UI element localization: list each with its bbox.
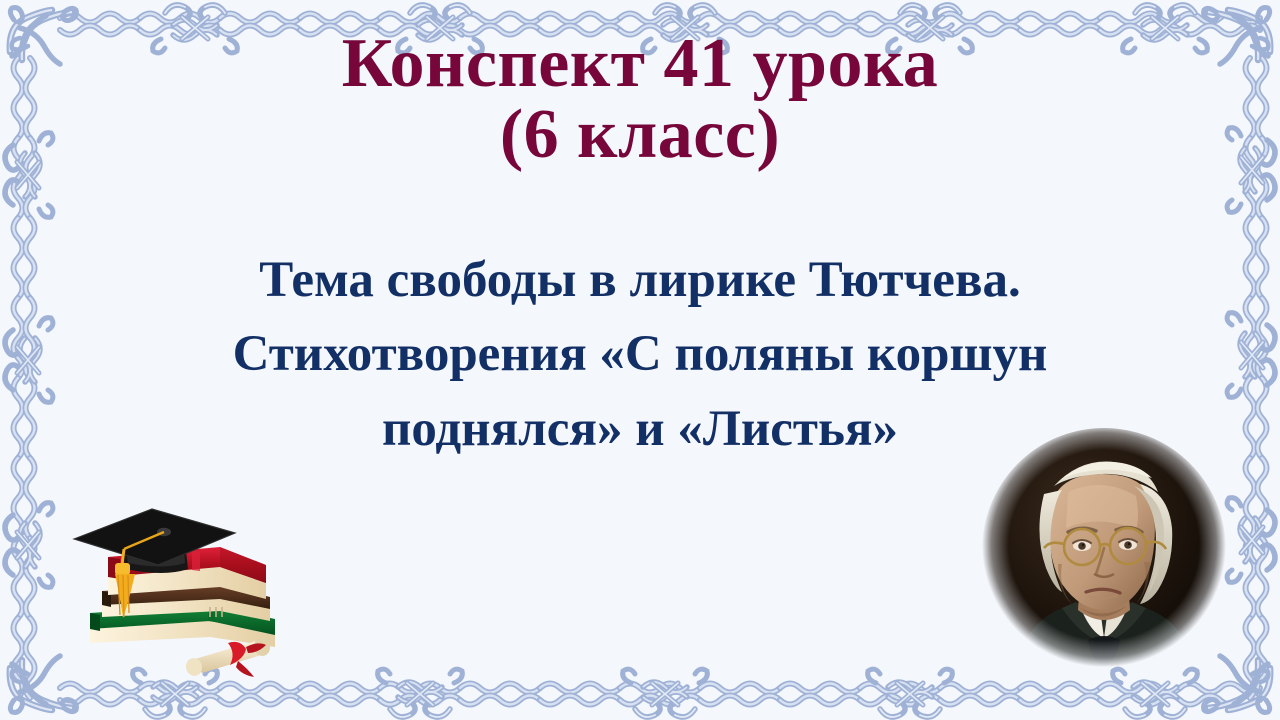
title-line-2: (6 класс) xyxy=(0,99,1280,170)
slide-canvas: Конспект 41 урока (6 класс) Тема свободы… xyxy=(0,0,1280,720)
title-line-1: Конспект 41 урока xyxy=(0,28,1280,99)
subtitle-line-2: Стихотворения «С поляны коршун xyxy=(90,317,1190,391)
subtitle-line-1: Тема свободы в лирике Тютчева. xyxy=(90,243,1190,317)
tyutchev-portrait xyxy=(976,424,1232,680)
graduation-cap-and-books-icon xyxy=(60,495,310,685)
diploma-scroll xyxy=(184,636,272,678)
page-title: Конспект 41 урока (6 класс) xyxy=(0,28,1280,171)
